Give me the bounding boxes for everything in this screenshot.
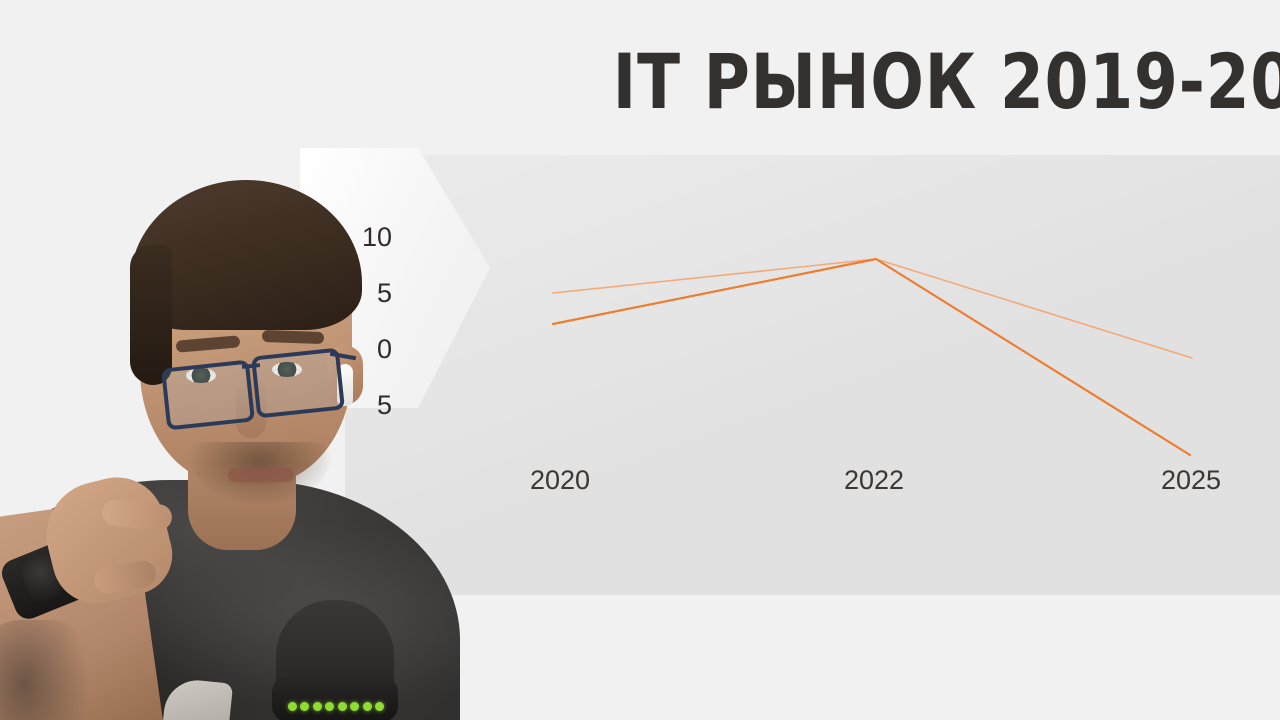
- led-dot: [288, 702, 297, 711]
- mouth: [228, 468, 294, 482]
- microphone-ring: [272, 676, 398, 720]
- eyebrow-right: [262, 330, 324, 344]
- led-dot: [350, 702, 359, 711]
- screenshot-canvas: IT РЫНОК 2019-2025 10 5 0 5 2020 2022 20…: [0, 0, 1280, 720]
- led-dot: [338, 702, 347, 711]
- led-dot: [313, 702, 322, 711]
- x-tick-2020: 2020: [530, 467, 590, 494]
- led-dot: [325, 702, 334, 711]
- glasses-icon: [162, 350, 344, 412]
- chart-panel: [345, 155, 1280, 595]
- tattoo: [0, 620, 90, 720]
- x-tick-2025: 2025: [1161, 467, 1221, 494]
- panel-sheen: [345, 155, 1280, 595]
- glasses-lens-right: [251, 348, 345, 419]
- led-dot: [375, 702, 384, 711]
- led-dot: [300, 702, 309, 711]
- presenter-photo: [0, 150, 470, 720]
- page-title: IT РЫНОК 2019-2025: [613, 44, 1220, 120]
- glasses-lens-left: [161, 360, 255, 431]
- x-tick-2022: 2022: [844, 467, 904, 494]
- led-dot: [363, 702, 372, 711]
- microphone-led-indicator: [288, 700, 384, 712]
